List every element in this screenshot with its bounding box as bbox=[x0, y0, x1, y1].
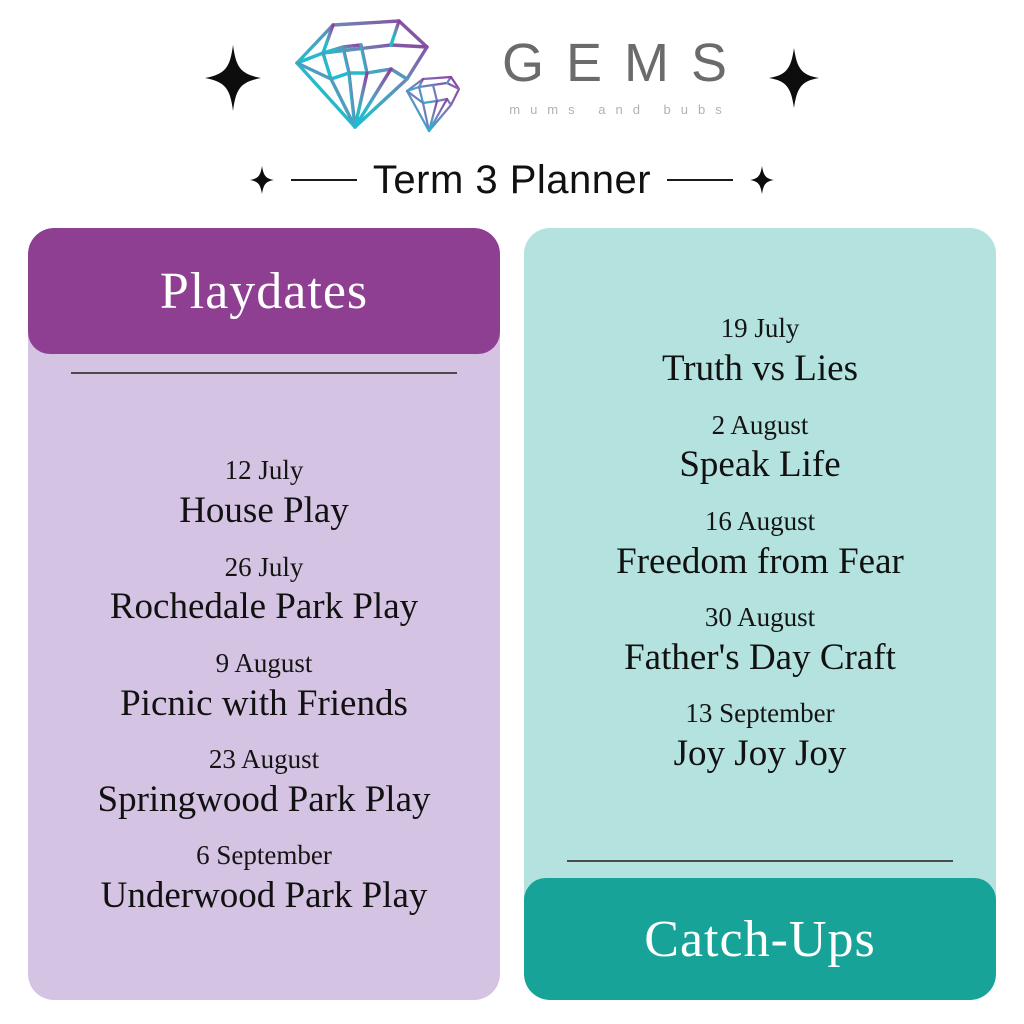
four-point-star-icon bbox=[249, 165, 275, 195]
catchups-heading: Catch-Ups bbox=[524, 878, 996, 1000]
event-name: House Play bbox=[179, 489, 349, 533]
event-name: Father's Day Craft bbox=[624, 636, 896, 680]
title-text: Term 3 Planner bbox=[373, 158, 651, 203]
list-item: 23 August Springwood Park Play bbox=[98, 735, 431, 831]
brand-name: GEMS bbox=[480, 36, 749, 90]
catchups-event-list: 19 July Truth vs Lies 2 August Speak Lif… bbox=[524, 228, 996, 860]
list-item: 30 August Father's Day Craft bbox=[624, 593, 896, 689]
event-date: 13 September bbox=[674, 698, 847, 730]
event-name: Underwood Park Play bbox=[101, 874, 428, 918]
catchups-card: 19 July Truth vs Lies 2 August Speak Lif… bbox=[524, 228, 996, 1000]
diamond-small-icon bbox=[407, 77, 459, 131]
event-name: Freedom from Fear bbox=[616, 540, 904, 584]
catchups-divider bbox=[567, 860, 953, 862]
list-item: 13 September Joy Joy Joy bbox=[674, 689, 847, 785]
list-item: 9 August Picnic with Friends bbox=[120, 639, 408, 735]
event-date: 12 July bbox=[179, 455, 349, 487]
list-item: 6 September Underwood Park Play bbox=[101, 831, 428, 927]
brand-wordmark: GEMS mums and bubs bbox=[480, 36, 749, 117]
event-date: 6 September bbox=[101, 840, 428, 872]
event-name: Speak Life bbox=[679, 443, 840, 487]
playdates-event-list: 12 July House Play 26 July Rochedale Par… bbox=[28, 374, 500, 1000]
brand-tagline: mums and bubs bbox=[497, 102, 732, 117]
event-name: Springwood Park Play bbox=[98, 778, 431, 822]
event-date: 9 August bbox=[120, 648, 408, 680]
four-point-star-icon bbox=[767, 46, 821, 110]
event-name: Picnic with Friends bbox=[120, 682, 408, 726]
title-rule-right bbox=[667, 179, 733, 181]
planner-page: GEMS mums and bubs Term 3 Planner Playda… bbox=[0, 0, 1024, 1024]
event-date: 16 August bbox=[616, 506, 904, 538]
planner-cards: Playdates 12 July House Play 26 July Roc… bbox=[28, 228, 996, 1000]
four-point-star-icon bbox=[203, 43, 263, 113]
list-item: 19 July Truth vs Lies bbox=[662, 304, 858, 400]
event-name: Rochedale Park Play bbox=[110, 585, 418, 629]
list-item: 12 July House Play bbox=[179, 446, 349, 542]
event-date: 23 August bbox=[98, 744, 431, 776]
event-date: 2 August bbox=[679, 410, 840, 442]
page-title: Term 3 Planner bbox=[0, 152, 1024, 208]
event-date: 19 July bbox=[662, 313, 858, 345]
playdates-card: Playdates 12 July House Play 26 July Roc… bbox=[28, 228, 500, 1000]
event-date: 30 August bbox=[624, 602, 896, 634]
list-item: 2 August Speak Life bbox=[679, 401, 840, 497]
event-date: 26 July bbox=[110, 552, 418, 584]
four-point-star-icon bbox=[749, 165, 775, 195]
diamond-icon bbox=[287, 17, 462, 139]
list-item: 26 July Rochedale Park Play bbox=[110, 543, 418, 639]
event-name: Truth vs Lies bbox=[662, 347, 858, 391]
list-item: 16 August Freedom from Fear bbox=[616, 497, 904, 593]
playdates-heading: Playdates bbox=[28, 228, 500, 354]
event-name: Joy Joy Joy bbox=[674, 732, 847, 776]
title-rule-left bbox=[291, 179, 357, 181]
brand-header: GEMS mums and bubs bbox=[0, 8, 1024, 148]
